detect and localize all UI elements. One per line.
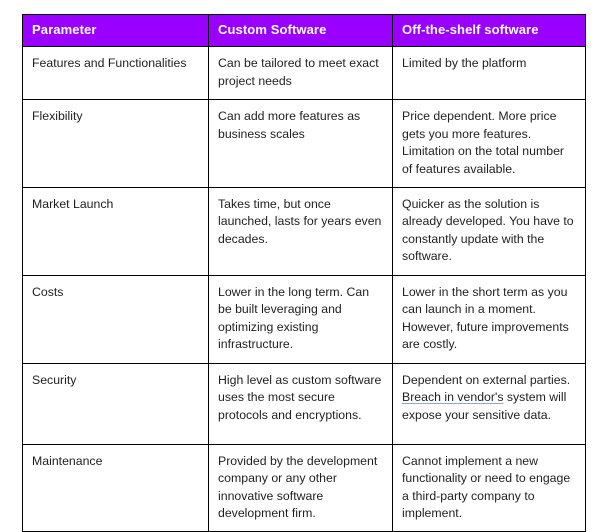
- table-header-row: Parameter Custom Software Off-the-shelf …: [23, 15, 586, 47]
- cell-custom-software: Lower in the long term. Can be built lev…: [209, 275, 393, 363]
- comparison-table-container: Parameter Custom Software Off-the-shelf …: [22, 14, 585, 532]
- breach-in-vendor-link[interactable]: Breach in vendor's: [402, 390, 503, 404]
- cell-off-the-shelf-software: Dependent on external parties. Breach in…: [393, 363, 586, 444]
- comparison-table: Parameter Custom Software Off-the-shelf …: [22, 14, 586, 532]
- table-row: Security High level as custom software u…: [23, 363, 586, 444]
- table-row: Costs Lower in the long term. Can be bui…: [23, 275, 586, 363]
- cell-custom-software: High level as custom software uses the m…: [209, 363, 393, 444]
- cell-off-the-shelf-software: Lower in the short term as you can launc…: [393, 275, 586, 363]
- cell-off-the-shelf-software: Price dependent. More price gets you mor…: [393, 100, 586, 188]
- cell-parameter: Security: [23, 363, 209, 444]
- cell-parameter: Costs: [23, 275, 209, 363]
- cell-text-prefix: Dependent on external parties.: [402, 373, 570, 387]
- cell-custom-software: Takes time, but once launched, lasts for…: [209, 188, 393, 276]
- page-root: Parameter Custom Software Off-the-shelf …: [0, 0, 610, 476]
- column-header-parameter: Parameter: [23, 15, 209, 47]
- cell-parameter: Features and Functionalities: [23, 47, 209, 100]
- cell-custom-software: Can add more features as business scales: [209, 100, 393, 188]
- cell-parameter: Market Launch: [23, 188, 209, 276]
- table-row: Features and Functionalities Can be tail…: [23, 47, 586, 100]
- cell-custom-software: Provided by the development company or a…: [209, 444, 393, 532]
- cell-custom-software: Can be tailored to meet exact project ne…: [209, 47, 393, 100]
- cell-off-the-shelf-software: Limited by the platform: [393, 47, 586, 100]
- table-header: Parameter Custom Software Off-the-shelf …: [23, 15, 586, 47]
- column-header-off-the-shelf-software: Off-the-shelf software: [393, 15, 586, 47]
- table-row: Maintenance Provided by the development …: [23, 444, 586, 532]
- cell-parameter: Maintenance: [23, 444, 209, 532]
- table-body: Features and Functionalities Can be tail…: [23, 47, 586, 532]
- table-row: Market Launch Takes time, but once launc…: [23, 188, 586, 276]
- cell-off-the-shelf-software: Cannot implement a new functionality or …: [393, 444, 586, 532]
- table-row: Flexibility Can add more features as bus…: [23, 100, 586, 188]
- cell-parameter: Flexibility: [23, 100, 209, 188]
- column-header-custom-software: Custom Software: [209, 15, 393, 47]
- cell-off-the-shelf-software: Quicker as the solution is already devel…: [393, 188, 586, 276]
